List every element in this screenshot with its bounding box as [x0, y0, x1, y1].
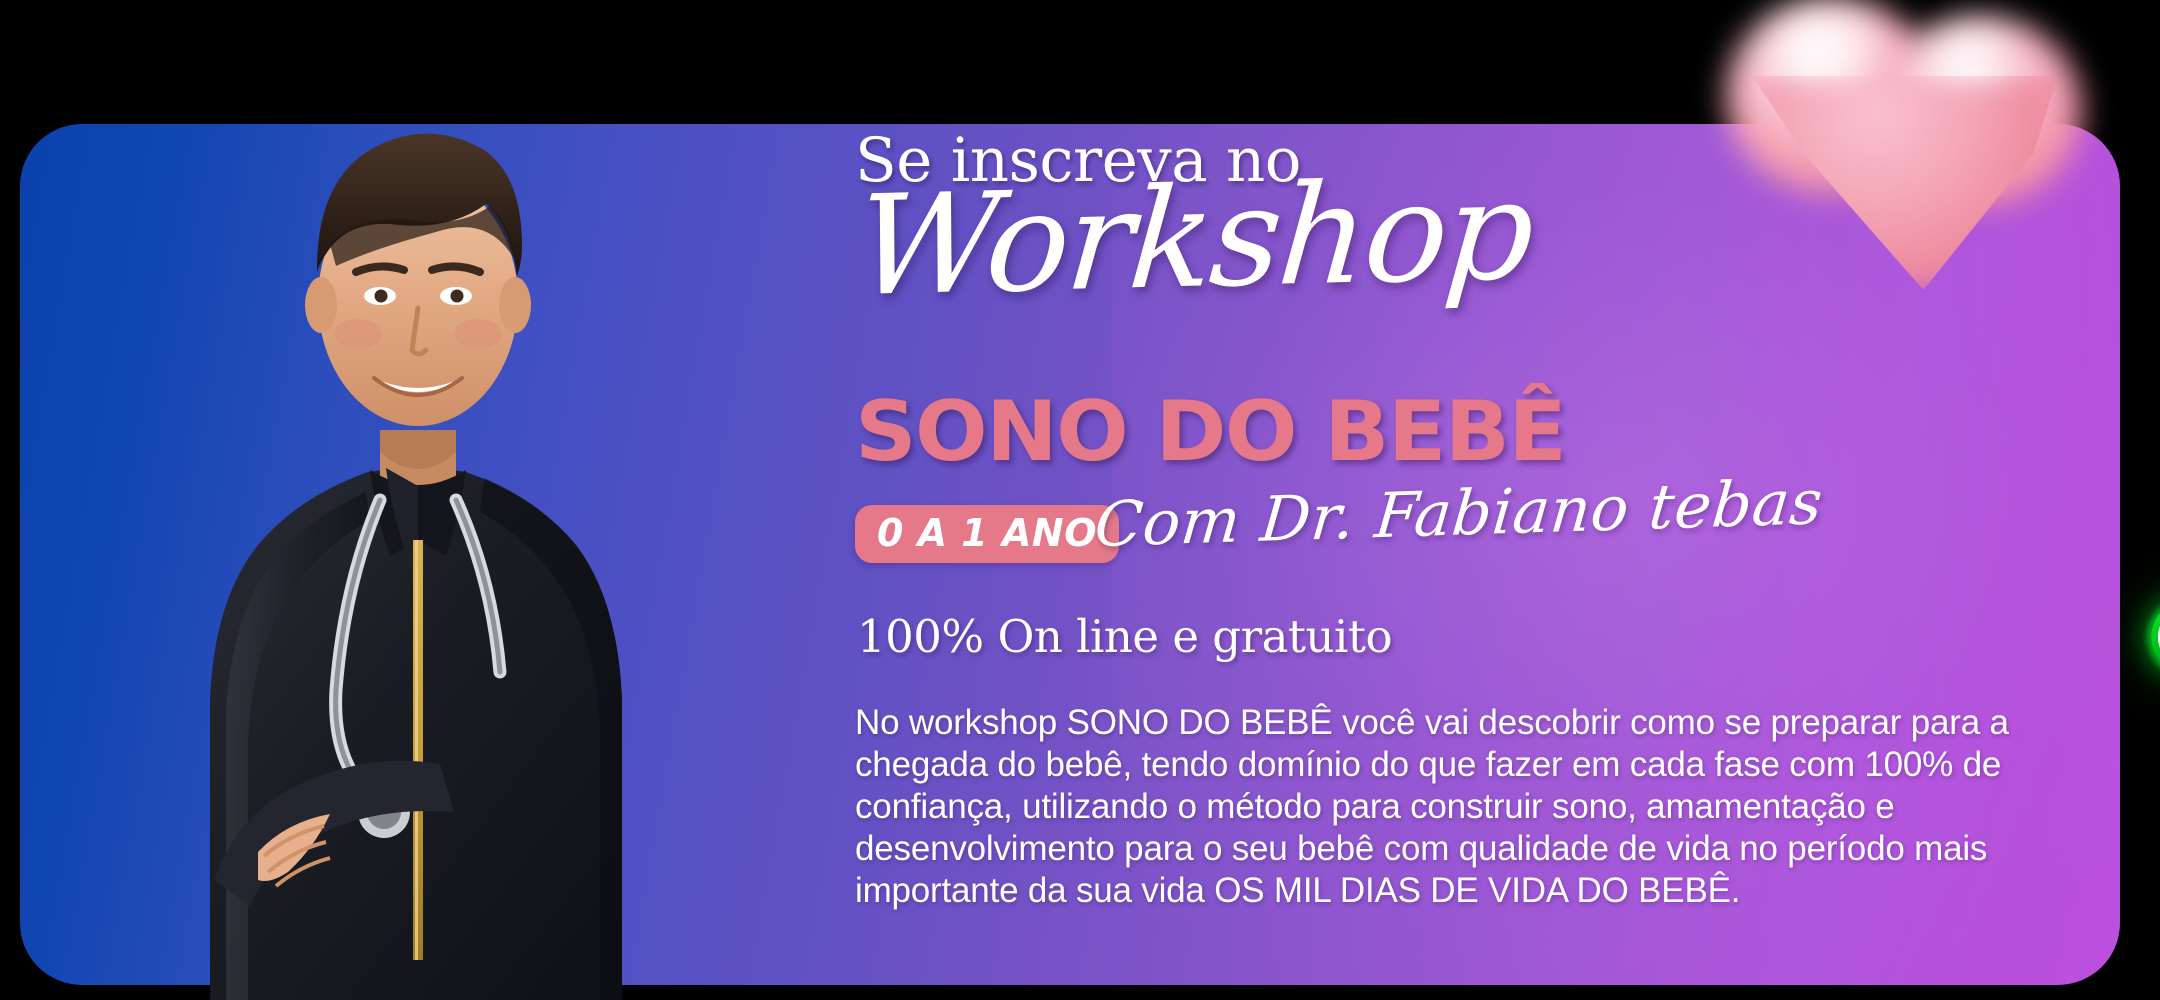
headline-text: SONO DO BEBÊ [855, 390, 1565, 473]
eu-quero-button[interactable]: EU QUERO [2151, 601, 2160, 673]
free-online-text: 100% On line e gratuito [857, 614, 1392, 659]
banner-content: Se inscreva no Workshop SONO DO BEBÊ 0 A… [855, 0, 2095, 1000]
script-title: Workshop [851, 162, 1536, 316]
banner-stage: Se inscreva no Workshop SONO DO BEBÊ 0 A… [0, 0, 2160, 1000]
age-badge: 0 A 1 ANO [855, 505, 1119, 563]
description-text: No workshop SONO DO BEBÊ você vai descob… [855, 702, 2077, 912]
author-credit: Com Dr. Fabiano tebas [1092, 471, 1825, 556]
